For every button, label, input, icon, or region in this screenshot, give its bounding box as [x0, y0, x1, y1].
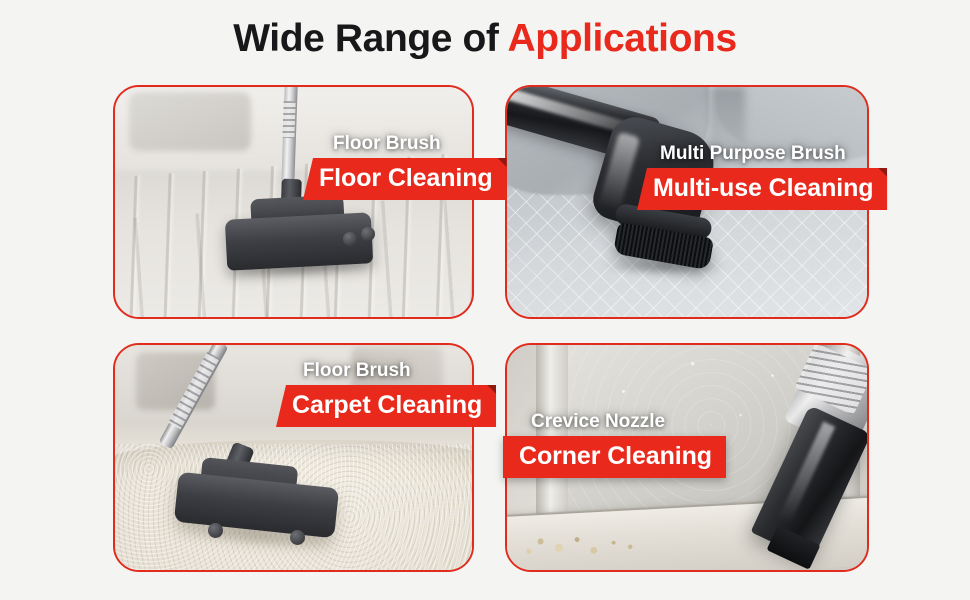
banner-multi-use-cleaning: Multi-use Cleaning	[637, 168, 887, 210]
banner-floor-cleaning: Floor Cleaning	[303, 158, 507, 200]
brush-wheel	[208, 523, 223, 538]
application-card-carpet-cleaning[interactable]	[113, 343, 474, 572]
banner-corner-cleaning: Corner Cleaning	[503, 436, 726, 478]
photo-floor-brush-wood-floor	[115, 87, 472, 317]
sofa-seam-shadow	[709, 87, 745, 179]
banner-label-corner-cleaning: Corner Cleaning	[519, 442, 712, 471]
banner-label-floor-cleaning: Floor Cleaning	[319, 164, 493, 193]
sill-debris	[514, 518, 680, 563]
tool-label-carpet-cleaning: Floor Brush	[303, 360, 411, 382]
banner-fold-notch	[498, 158, 507, 167]
photo-floor-brush-carpet	[115, 345, 472, 570]
banner-fold-notch	[487, 385, 496, 394]
tool-label-floor-cleaning: Floor Brush	[333, 133, 441, 155]
banner-label-multi-use-cleaning: Multi-use Cleaning	[653, 174, 873, 203]
brush-wheel	[290, 530, 305, 545]
banner-fold-notch	[878, 168, 887, 177]
tool-label-multi-use-cleaning: Multi Purpose Brush	[660, 143, 846, 165]
page-title-accent: Applications	[508, 17, 737, 60]
page-title: Wide Range of Applications	[0, 18, 970, 61]
application-card-floor-cleaning[interactable]	[113, 85, 474, 319]
page-title-plain: Wide Range of	[233, 17, 507, 60]
banner-label-carpet-cleaning: Carpet Cleaning	[292, 391, 482, 420]
banner-carpet-cleaning: Carpet Cleaning	[276, 385, 496, 427]
tool-label-corner-cleaning: Crevice Nozzle	[531, 411, 665, 433]
vacuum-wand-ribs	[283, 101, 296, 138]
background-furniture	[129, 92, 250, 152]
infographic-page: Wide Range of Applications	[0, 0, 970, 600]
